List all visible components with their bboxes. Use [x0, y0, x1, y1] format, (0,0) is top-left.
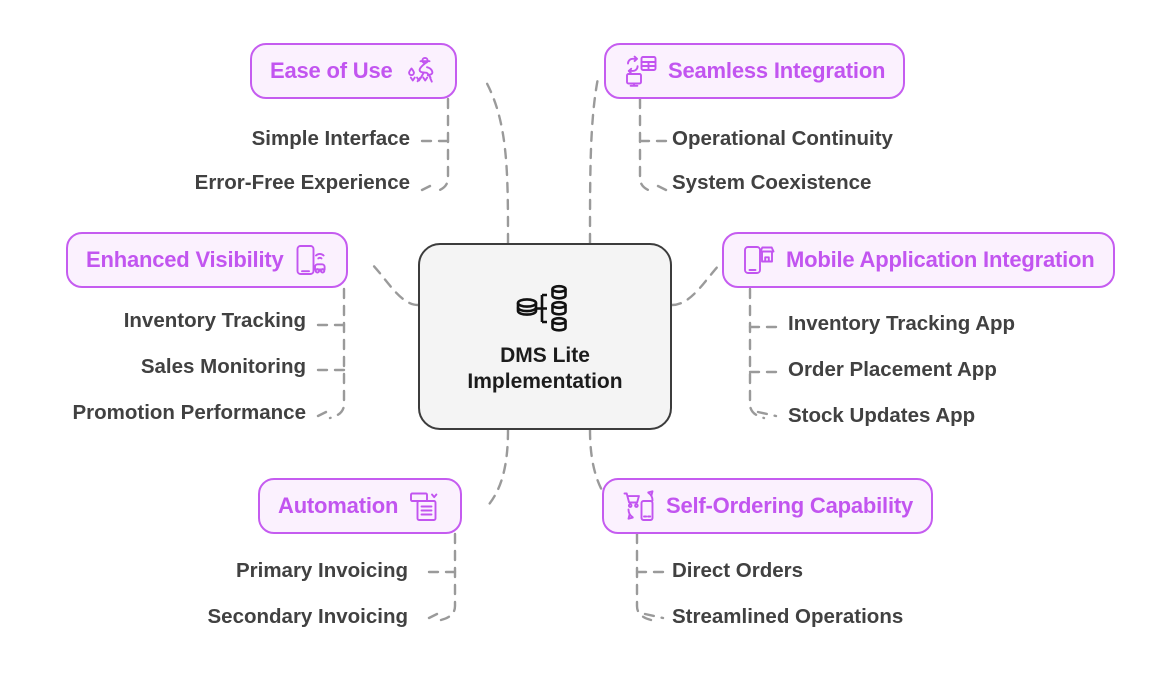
link-automation-child-1	[429, 614, 437, 618]
subitem-ease-1[interactable]: Error-Free Experience	[195, 172, 410, 194]
subitem-selfordering-1[interactable]: Streamlined Operations	[672, 606, 903, 628]
center-node-title: DMS Lite Implementation	[467, 343, 622, 394]
person-ease-icon	[403, 54, 437, 88]
subitems-seamless-integration: Operational Continuity System Coexistenc…	[672, 128, 893, 216]
subitems-ease-of-use: Simple Interface Error-Free Experience	[0, 128, 410, 216]
link-seamless-trunk	[640, 99, 654, 192]
subitem-selfordering-0[interactable]: Direct Orders	[672, 560, 803, 582]
cart-mobile-reorder-icon	[622, 489, 656, 523]
center-title-line1: DMS Lite	[467, 343, 622, 369]
subitems-automation: Primary Invoicing Secondary Invoicing	[0, 560, 408, 652]
subitem-ease-0[interactable]: Simple Interface	[252, 128, 410, 150]
monitor-sync-table-icon	[624, 54, 658, 88]
link-center-seamless	[590, 78, 598, 243]
link-automation-trunk	[441, 534, 455, 620]
mobile-store-icon	[742, 243, 776, 277]
link-selfordering-child-1	[645, 614, 663, 618]
link-center-ease	[484, 78, 508, 243]
branch-node-mobile-application-integration[interactable]: Mobile Application Integration	[722, 232, 1115, 288]
link-center-visibility	[370, 262, 418, 305]
subitem-visibility-1[interactable]: Sales Monitoring	[141, 356, 306, 378]
link-visibility-trunk	[330, 289, 344, 418]
subitem-automation-0[interactable]: Primary Invoicing	[236, 560, 408, 582]
branch-label-enhanced-visibility: Enhanced Visibility	[86, 249, 284, 271]
branch-node-self-ordering-capability[interactable]: Self-Ordering Capability	[602, 478, 933, 534]
subitem-mobile-0[interactable]: Inventory Tracking App	[788, 313, 1015, 335]
link-mobile-trunk	[750, 289, 764, 418]
branch-node-seamless-integration[interactable]: Seamless Integration	[604, 43, 905, 99]
document-form-icon	[408, 489, 442, 523]
link-mobile-child-2	[758, 412, 776, 416]
center-title-line2: Implementation	[467, 369, 622, 395]
link-visibility-child-2	[318, 412, 326, 416]
link-center-mobile	[672, 262, 722, 305]
branch-label-automation: Automation	[278, 495, 398, 517]
link-ease-child-1	[422, 186, 430, 190]
subitem-seamless-1[interactable]: System Coexistence	[672, 172, 871, 194]
subitem-seamless-0[interactable]: Operational Continuity	[672, 128, 893, 150]
subitem-mobile-2[interactable]: Stock Updates App	[788, 405, 975, 427]
subitems-mobile-application-integration: Inventory Tracking App Order Placement A…	[788, 313, 1015, 451]
branch-node-enhanced-visibility[interactable]: Enhanced Visibility	[66, 232, 348, 288]
branch-label-ease-of-use: Ease of Use	[270, 60, 393, 82]
subitem-visibility-0[interactable]: Inventory Tracking	[124, 310, 306, 332]
subitem-visibility-2[interactable]: Promotion Performance	[72, 402, 306, 424]
mindmap-canvas: DMS Lite Implementation Ease of Use Simp…	[0, 0, 1149, 673]
branch-label-self-ordering-capability: Self-Ordering Capability	[666, 495, 913, 517]
center-node[interactable]: DMS Lite Implementation	[418, 243, 672, 430]
link-center-automation	[486, 430, 508, 508]
branch-node-ease-of-use[interactable]: Ease of Use	[250, 43, 457, 99]
subitems-enhanced-visibility: Inventory Tracking Sales Monitoring Prom…	[0, 310, 306, 448]
database-distribution-icon	[514, 279, 576, 335]
branch-node-automation[interactable]: Automation	[258, 478, 462, 534]
branch-label-seamless-integration: Seamless Integration	[668, 60, 885, 82]
branch-label-mobile-application-integration: Mobile Application Integration	[786, 249, 1095, 271]
mobile-signal-vehicle-icon	[294, 243, 328, 277]
subitem-automation-1[interactable]: Secondary Invoicing	[208, 606, 409, 628]
link-ease-trunk	[434, 99, 448, 192]
link-selfordering-trunk	[637, 534, 651, 620]
subitems-self-ordering-capability: Direct Orders Streamlined Operations	[672, 560, 903, 652]
subitem-mobile-1[interactable]: Order Placement App	[788, 359, 997, 381]
link-seamless-child-1	[658, 186, 666, 190]
